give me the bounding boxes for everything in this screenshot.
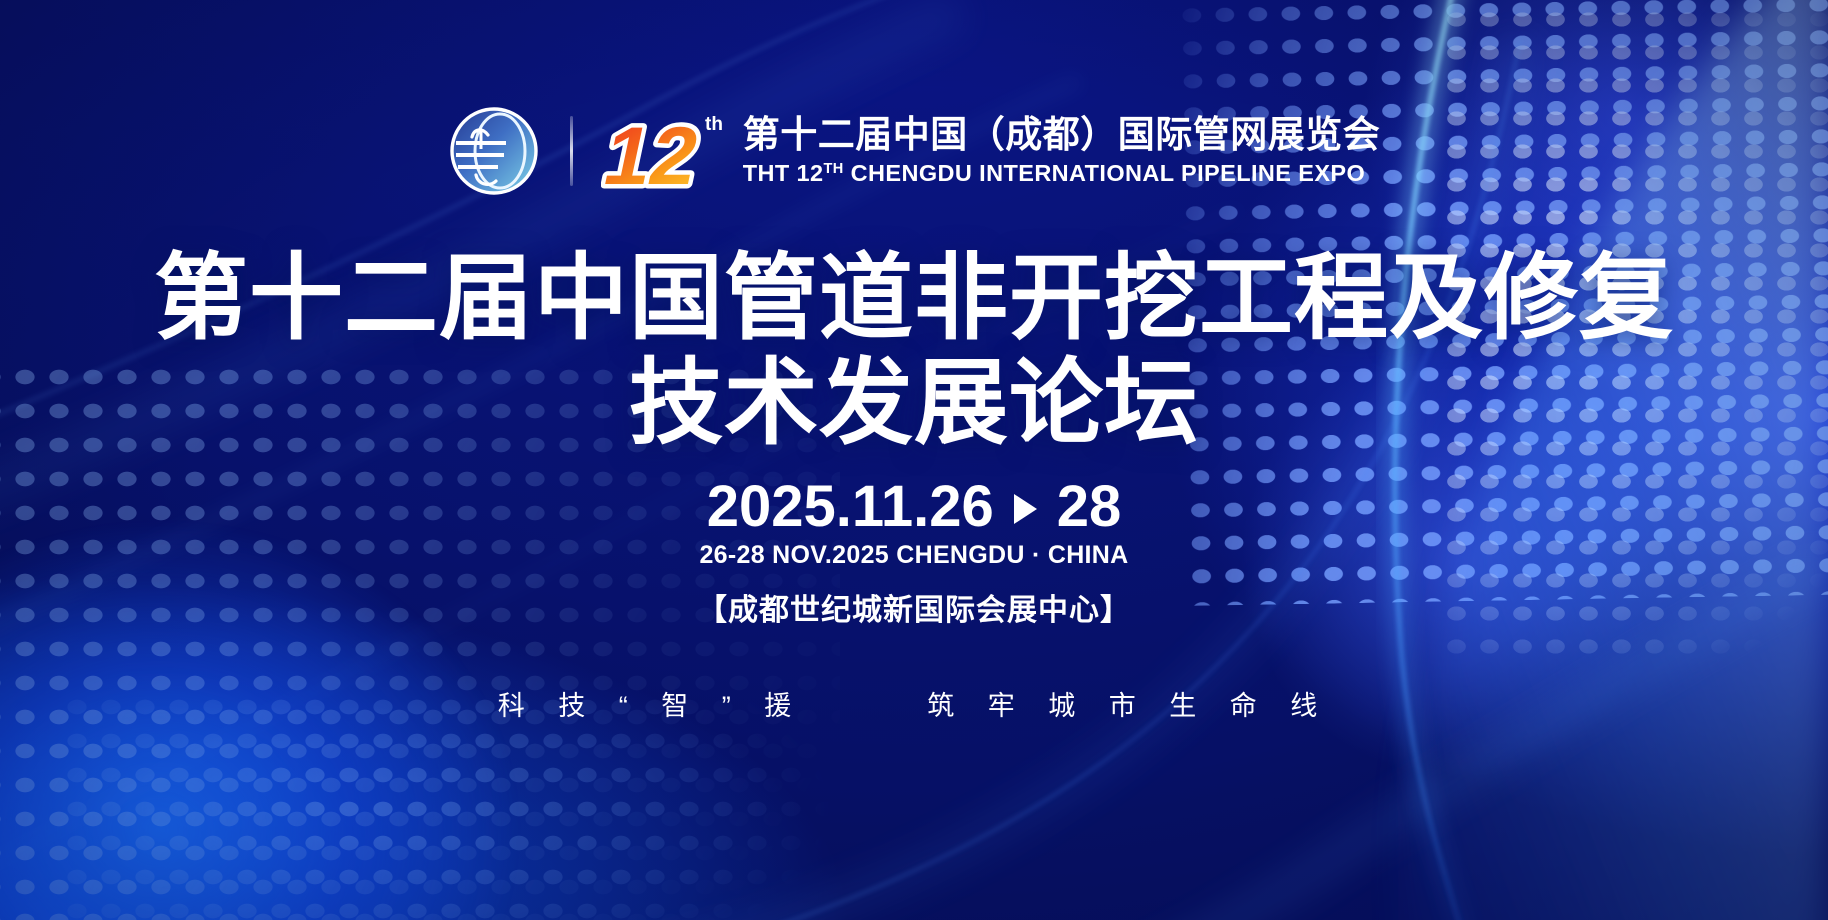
page-title-line-2: 技术发展论坛 <box>0 350 1828 455</box>
event-date-english: 26-28 NOV.2025 CHENGDU · CHINA <box>0 541 1828 570</box>
expo-logo-lockup: 12 12 th 第十二届中国（成都）国际管网展览会 THT 12TH CHEN… <box>0 104 1828 198</box>
vertical-divider-icon <box>570 116 573 186</box>
event-date: 2025.11.26 28 <box>0 473 1828 540</box>
svg-text:th: th <box>705 114 723 135</box>
event-slogan: 科 技 “ 智 ” 援 筑 牢 城 市 生 命 线 <box>0 684 1828 723</box>
expo-name-en-rest: CHENGDU INTERNATIONAL PIPELINE EXPO <box>844 160 1365 186</box>
page-title-line-1: 第十二届中国管道非开挖工程及修复 <box>0 245 1828 350</box>
event-venue: 【成都世纪城新国际会展中心】 <box>0 585 1828 629</box>
event-date-start: 2025.11.26 <box>707 473 994 540</box>
event-date-end: 28 <box>1057 473 1122 540</box>
pipeline-circle-emblem-icon <box>448 105 540 197</box>
expo-name-block: 第十二届中国（成都）国际管网展览会 THT 12TH CHENGDU INTER… <box>743 114 1381 188</box>
expo-name-en: THT 12TH CHENGDU INTERNATIONAL PIPELINE … <box>743 159 1381 188</box>
expo-name-cn: 第十二届中国（成都）国际管网展览会 <box>743 114 1381 155</box>
svg-text:12: 12 <box>601 110 707 198</box>
play-triangle-icon <box>1014 494 1037 524</box>
event-poster: 12 12 th 第十二届中国（成都）国际管网展览会 THT 12TH CHEN… <box>0 0 1828 920</box>
poster-content: 12 12 th 第十二届中国（成都）国际管网展览会 THT 12TH CHEN… <box>0 0 1828 920</box>
expo-name-en-prefix: THT 12 <box>743 160 824 186</box>
expo-name-en-ordinal: TH <box>824 161 844 177</box>
page-title: 第十二届中国管道非开挖工程及修复 技术发展论坛 <box>0 245 1828 456</box>
edition-12th-mark: 12 12 th <box>601 104 729 198</box>
